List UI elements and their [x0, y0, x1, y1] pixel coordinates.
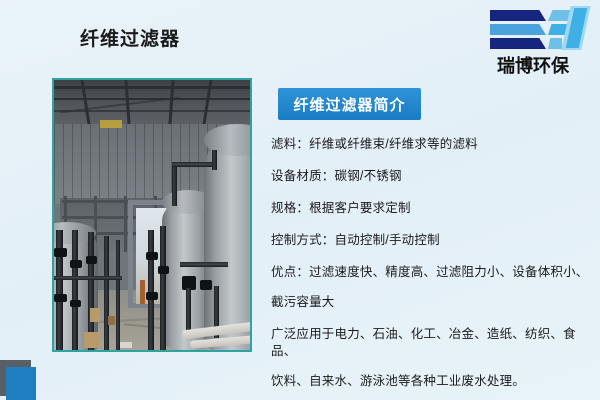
info-line-control-mode: 控制方式：自动控制/手动控制 — [271, 232, 593, 249]
info-line-advantages-cont: 截污容量大 — [271, 294, 593, 311]
info-line-equipment-material: 设备材质：碳钢/不锈钢 — [271, 168, 593, 185]
page-title: 纤维过滤器 — [80, 24, 180, 51]
logo-mark-icon — [474, 6, 592, 54]
logo-brand-text: 瑞博环保 — [474, 52, 592, 78]
info-panel-header: 纤维过滤器简介 — [278, 88, 421, 120]
equipment-photo — [52, 78, 252, 352]
info-panel-header-text: 纤维过滤器简介 — [293, 94, 405, 115]
info-line-advantages: 优点：过滤速度快、精度高、过滤阻力小、设备体积小、 — [271, 264, 593, 281]
info-panel-body: 滤料：纤维或纤维束/纤维求等的滤料 设备材质：碳钢/不锈钢 规格：根据客户要求定… — [271, 136, 593, 390]
info-line-applications-cont: 饮料、自来水、游泳池等各种工业废水处理。 — [271, 373, 593, 390]
decoration-square-blue — [6, 367, 36, 400]
info-line-material: 滤料：纤维或纤维束/纤维求等的滤料 — [271, 136, 593, 153]
info-line-specification: 规格：根据客户要求定制 — [271, 200, 593, 217]
brand-logo: 瑞博环保 — [474, 6, 592, 82]
info-line-applications: 广泛应用于电力、石油、化工、冶金、造纸、纺织、食品、 — [271, 326, 593, 360]
slide-canvas: 纤维过滤器 瑞博环保 — [0, 0, 600, 400]
